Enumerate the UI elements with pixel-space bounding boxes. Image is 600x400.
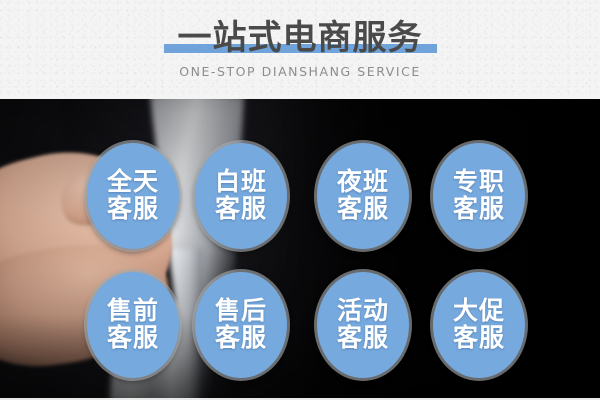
badge-line-2: 客服 — [107, 196, 159, 223]
service-badge-dacu-kefu[interactable]: 大促 客服 — [433, 272, 525, 378]
banner-header: 一站式电商服务 ONE-STOP DIANSHANG SERVICE — [0, 0, 600, 99]
title-block: 一站式电商服务 — [164, 21, 437, 55]
badge-line-1: 售后 — [215, 298, 267, 325]
badge-line-1: 夜班 — [337, 169, 389, 196]
badge-line-1: 专职 — [453, 169, 505, 196]
badge-line-2: 客服 — [215, 196, 267, 223]
service-badge-zhuanzhi-kefu[interactable]: 专职 客服 — [433, 143, 525, 249]
service-badge-shouhou-kefu[interactable]: 售后 客服 — [195, 272, 287, 378]
badge-line-1: 大促 — [453, 298, 505, 325]
badge-line-2: 客服 — [107, 325, 159, 352]
service-badge-shouqian-kefu[interactable]: 售前 客服 — [87, 272, 179, 378]
service-badge-grid: 全天 客服 白班 客服 夜班 客服 专职 客服 售前 客服 售后 客服 活动 客… — [0, 99, 600, 398]
badge-line-2: 客服 — [337, 196, 389, 223]
page-title: 一站式电商服务 — [178, 21, 423, 55]
service-badge-baiban-kefu[interactable]: 白班 客服 — [195, 143, 287, 249]
badge-line-2: 客服 — [337, 325, 389, 352]
service-badge-quantian-kefu[interactable]: 全天 客服 — [87, 143, 179, 249]
badge-line-1: 售前 — [107, 298, 159, 325]
header-content: 一站式电商服务 ONE-STOP DIANSHANG SERVICE — [0, 0, 600, 99]
service-badge-huodong-kefu[interactable]: 活动 客服 — [317, 272, 409, 378]
page-subtitle: ONE-STOP DIANSHANG SERVICE — [179, 64, 421, 79]
promo-banner: 一站式电商服务 ONE-STOP DIANSHANG SERVICE 全天 客服… — [0, 0, 600, 400]
badge-line-1: 活动 — [337, 298, 389, 325]
badge-line-1: 全天 — [107, 169, 159, 196]
badge-line-1: 白班 — [215, 169, 267, 196]
badge-line-2: 客服 — [453, 325, 505, 352]
service-badge-yeban-kefu[interactable]: 夜班 客服 — [317, 143, 409, 249]
badge-line-2: 客服 — [215, 325, 267, 352]
badge-line-2: 客服 — [453, 196, 505, 223]
